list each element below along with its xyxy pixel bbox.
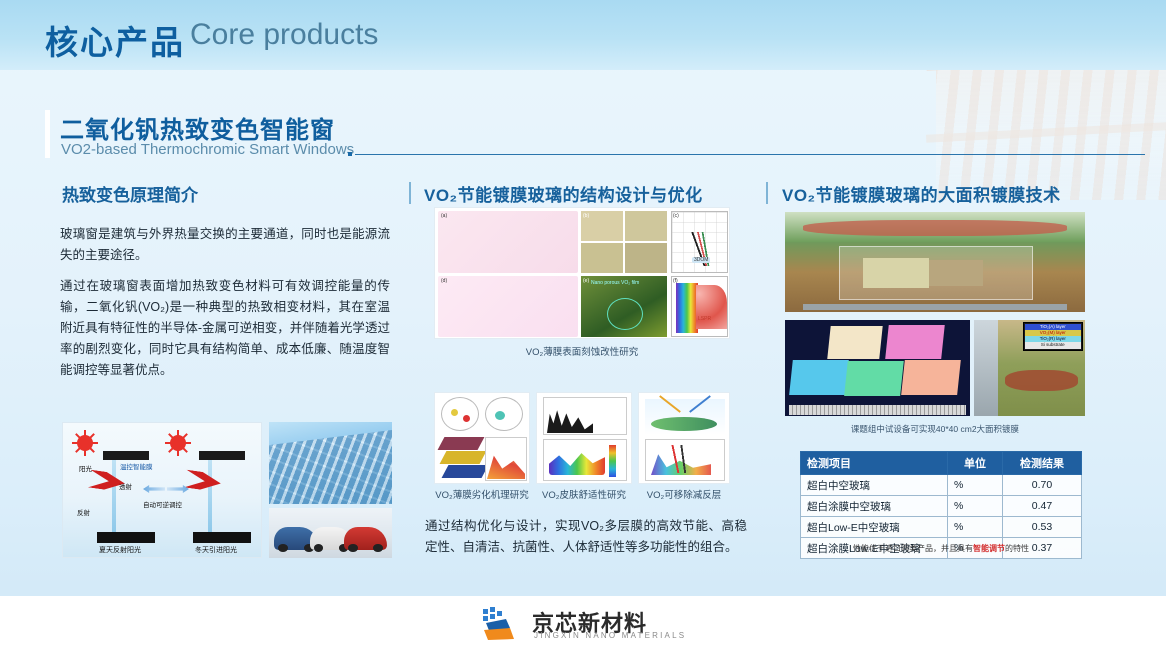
left-image-group: 阳光 反射 温控智能膜 透射 夏天反射阳光 冬天引进阳光 自动可逆调控	[62, 422, 392, 558]
logo-mark-icon	[480, 606, 524, 642]
table-footnote-highlight: 智能调节	[973, 544, 1005, 553]
logo-text-en: JINGXIN NANO MATERIALS	[534, 631, 686, 640]
panel-top-summer	[103, 451, 149, 460]
section-accent-bar	[45, 110, 50, 158]
left-column-heading: 热致变色原理简介	[62, 181, 198, 206]
column-divider-middle	[409, 182, 411, 204]
figure-panel-e-leaf: Nano porous VO₂ film	[581, 276, 667, 337]
figure-degradation	[434, 392, 530, 484]
caption-winter: 冬天引进阳光	[195, 545, 237, 555]
table-header-value: 检测结果	[1003, 452, 1082, 475]
table-cell-item: 超白中空玻璃	[801, 475, 948, 496]
middle-paragraph: 通过结构优化与设计，实现VO₂多层膜的高效节能、高稳定性、自清洁、抗菌性、人体舒…	[425, 516, 747, 558]
table-footnote-prefix: 性能优于进口同类产品，并且具有	[853, 544, 973, 553]
photo-large-area-coating	[785, 212, 1085, 312]
figure-panel-a	[438, 211, 578, 273]
panel-top-winter	[199, 451, 245, 460]
right-column-heading: VO₂节能镀膜玻璃的大面积镀膜技术	[782, 181, 1061, 206]
header-title-zh: 核心产品	[45, 16, 185, 64]
table-cell-unit: %	[948, 517, 1003, 538]
figure-panel-c-chart: 3DOM	[671, 211, 728, 273]
slide-header: 核心产品 Core products	[0, 0, 1166, 70]
table-cell-item: 超白Low-E中空玻璃	[801, 517, 948, 538]
column-divider-right	[766, 182, 768, 204]
sun-icon-winter	[170, 435, 186, 451]
figure-structure-panel: (a) (b) 3DOM (c) (d) Nano porous VO₂ fil…	[434, 207, 730, 339]
table-cell-value: 0.70	[1003, 475, 1082, 496]
caption-summer: 夏天反射阳光	[99, 545, 141, 555]
figure-panel-b4	[625, 243, 667, 273]
panel-base-winter	[193, 532, 251, 543]
table-cell-value: 0.53	[1003, 517, 1082, 538]
arrow-right-icon	[167, 485, 189, 493]
table-row: 超白涂膜中空玻璃 % 0.47	[801, 496, 1082, 517]
table-row: 超白Low-E中空玻璃 % 0.53	[801, 517, 1082, 538]
table-row: 超白中空玻璃 % 0.70	[801, 475, 1082, 496]
figure-caption-1: VO₂薄膜劣化机理研究	[434, 487, 530, 501]
figure-panel-f-chart: LSPR	[671, 276, 728, 337]
company-logo: 京芯新材料 JINGXIN NANO MATERIALS	[480, 602, 690, 646]
table-footnote-suffix: 的特性	[1005, 544, 1029, 553]
label-transmit: 透射	[119, 481, 132, 491]
figure-panel-b2	[625, 211, 667, 241]
table-footnote: 性能优于进口同类产品，并且具有智能调节的特性	[800, 543, 1082, 554]
left-paragraph-2: 通过在玻璃窗表面增加热致变色材料可有效调控能量的传输，二氧化钒(VO₂)是一种典…	[60, 276, 390, 381]
section-title-en: VO2-based Thermochromic Smart Windows	[61, 141, 354, 158]
figure-caption-3: VO₂可移除减反层	[638, 487, 730, 501]
layer-label-3: Si substrate	[1025, 342, 1081, 348]
figure-antireflection	[638, 392, 730, 484]
transmit-arrow-winter	[184, 470, 222, 493]
figure-caption-0: VO₂薄膜表面刻蚀改性研究	[434, 344, 730, 358]
photo-color-samples	[785, 320, 970, 416]
label-reflect-summer: 反射	[77, 507, 90, 517]
middle-column-heading: VO₂节能镀膜玻璃的结构设计与优化	[424, 181, 703, 206]
right-photo-caption: 课题组中试设备可实现40*40 cm2大面积镀膜	[785, 423, 1085, 435]
photo-layer-structure: TiO₂(A) layer VO₂(M) layer TiO₂(R) layer…	[974, 320, 1085, 416]
table-header-item: 检测项目	[801, 452, 948, 475]
label-sunlight-summer: 阳光	[79, 463, 92, 473]
label-smart-film: 温控智能膜	[120, 461, 153, 471]
panel-base-summer	[97, 532, 155, 543]
photo-cars	[269, 508, 392, 558]
section-divider-dot	[348, 152, 352, 156]
section-divider-line	[355, 154, 1145, 156]
glass-summer	[112, 460, 116, 532]
slide-root: 核心产品 Core products 二氧化钒热致变色智能窗 VO2-based…	[0, 0, 1166, 658]
label-auto-reversible: 自动可逆调控	[143, 499, 182, 509]
thermochromic-principle-diagram: 阳光 反射 温控智能膜 透射 夏天反射阳光 冬天引进阳光 自动可逆调控	[62, 422, 262, 558]
header-title-en: Core products	[190, 18, 378, 52]
table-cell-value: 0.47	[1003, 496, 1082, 517]
table-cell-unit: %	[948, 496, 1003, 517]
table-header-unit: 单位	[948, 452, 1003, 475]
arrow-left-icon	[143, 485, 165, 493]
figure-caption-2: VO₂皮肤舒适性研究	[536, 487, 632, 501]
photo-glass-curtain-building	[269, 422, 392, 504]
car-red	[344, 527, 387, 550]
figure-skin-comfort	[536, 392, 632, 484]
glass-winter	[208, 460, 212, 532]
section-title-zh: 二氧化钒热致变色智能窗	[60, 110, 335, 145]
figure-panel-d	[438, 276, 578, 337]
sun-icon-summer	[77, 435, 93, 451]
figure-panel-b3	[581, 243, 623, 273]
table-cell-unit: %	[948, 475, 1003, 496]
left-paragraph-1: 玻璃窗是建筑与外界热量交换的主要通道，同时也是能源流失的主要途径。	[60, 224, 390, 266]
table-header-row: 检测项目 单位 检测结果	[801, 452, 1082, 475]
table-cell-item: 超白涂膜中空玻璃	[801, 496, 948, 517]
